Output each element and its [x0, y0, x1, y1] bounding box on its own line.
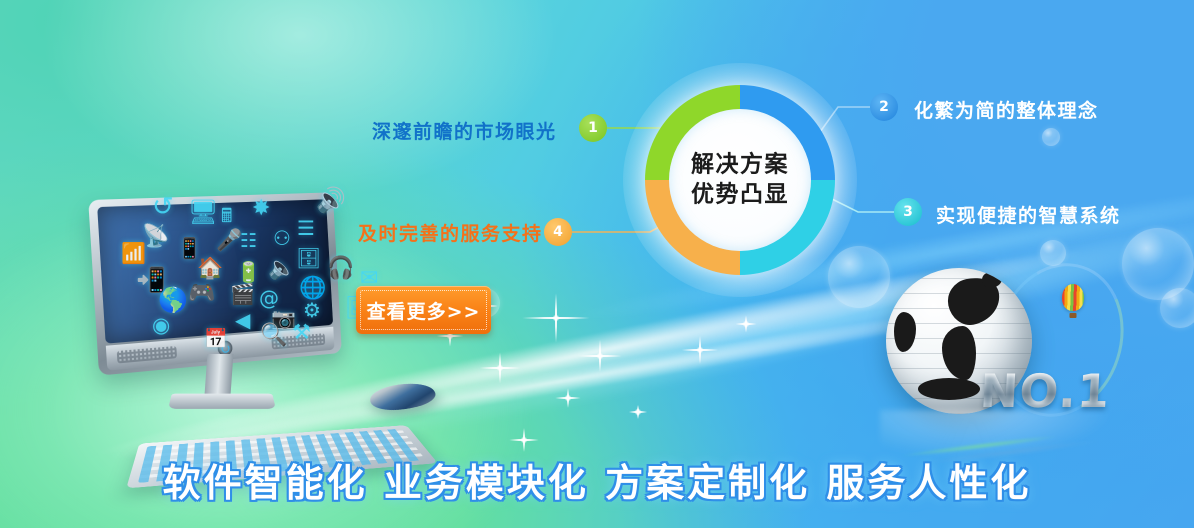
- feature-badge-3[interactable]: 3: [894, 198, 922, 226]
- calculator-icon: 🖩: [221, 207, 232, 226]
- refresh-icon: ↺: [152, 194, 174, 220]
- smartphone-icon: 📱: [177, 238, 202, 258]
- globe-icon: 🌐: [299, 278, 326, 300]
- feature-badge-2-number: 2: [879, 99, 889, 115]
- speaker-vent-left: [117, 346, 177, 364]
- feature-label-3: 实现便捷的智慧系统: [936, 201, 1121, 228]
- feature-label-4: 及时完善的服务支持: [358, 219, 543, 246]
- speaker-icon: 🔊: [316, 188, 346, 212]
- clapperboard-icon: 🎬: [230, 284, 255, 304]
- microphone-icon: 🎤: [216, 230, 242, 251]
- feature-label-1: 深邃前瞻的市场眼光: [372, 117, 557, 144]
- donut-label-line1: 解决方案: [645, 150, 835, 180]
- search-icon: 🔍: [260, 325, 287, 347]
- bubble-decoration: [1040, 240, 1066, 266]
- router-icon: ☷: [240, 232, 257, 251]
- memory-card-icon: 🗄: [296, 248, 321, 268]
- feature-badge-3-number: 3: [903, 204, 913, 220]
- promo-banner: ↺ 🖥 🖩 ✸ 🔊 ☰ 📡 📶 📱 🎤 ☷ ⚇ 🗄 🎧 ✉ 📲 🏠 🔋 🔈 🎮 …: [0, 0, 1194, 528]
- headphones-icon: 🎧: [327, 258, 354, 280]
- house-icon: 🏠: [197, 258, 223, 279]
- calendar-icon: 📅: [204, 330, 228, 349]
- feature-label-2: 化繁为简的整体理念: [914, 96, 1099, 123]
- fan-icon: ✸: [252, 198, 270, 220]
- globe-illustration: NO.1: [876, 268, 1126, 468]
- battery-icon: 🔋: [236, 262, 261, 282]
- feature-badge-1[interactable]: 1: [579, 114, 607, 142]
- feature-badge-2[interactable]: 2: [870, 93, 898, 121]
- wifi-signal-icon: 📶: [121, 243, 146, 263]
- monitor-stand-neck: [205, 354, 234, 394]
- feature-badge-1-number: 1: [588, 120, 598, 136]
- gamepad-icon: 🎮: [188, 283, 215, 305]
- at-sign-icon: @: [259, 288, 279, 308]
- background-glow-top: [40, 0, 560, 200]
- globe-small-icon: 🌎: [158, 288, 188, 312]
- network-icon: ⚇: [273, 228, 291, 248]
- feature-badge-4-number: 4: [553, 224, 563, 240]
- volume-icon: 🔈: [268, 258, 295, 280]
- view-more-button[interactable]: 查看更多>>: [356, 286, 491, 334]
- bottom-tagline: 软件智能化 业务模块化 方案定制化 服务人性化: [0, 452, 1194, 507]
- play-icon: ◀: [235, 310, 250, 330]
- landmass-antarctic: [918, 378, 980, 400]
- bubble-decoration: [1160, 288, 1194, 328]
- wifi-tower-icon: 📡: [142, 226, 169, 248]
- monitor-stand-base: [168, 394, 276, 409]
- solution-donut-chart: 解决方案 优势凸显: [645, 85, 835, 275]
- tools-icon: ⚒: [292, 322, 311, 343]
- bubble-decoration: [1042, 128, 1060, 146]
- gear-icon: ⚙: [303, 300, 321, 320]
- feature-badge-4[interactable]: 4: [544, 218, 572, 246]
- donut-label-line2: 优势凸显: [645, 180, 835, 210]
- film-reel-icon: ◉: [152, 315, 170, 336]
- hot-air-balloon-icon: [1062, 284, 1084, 311]
- donut-center-label: 解决方案 优势凸显: [645, 150, 835, 211]
- laptop-icon: 🖥: [188, 200, 218, 224]
- equalizer-icon: ☰: [297, 218, 315, 238]
